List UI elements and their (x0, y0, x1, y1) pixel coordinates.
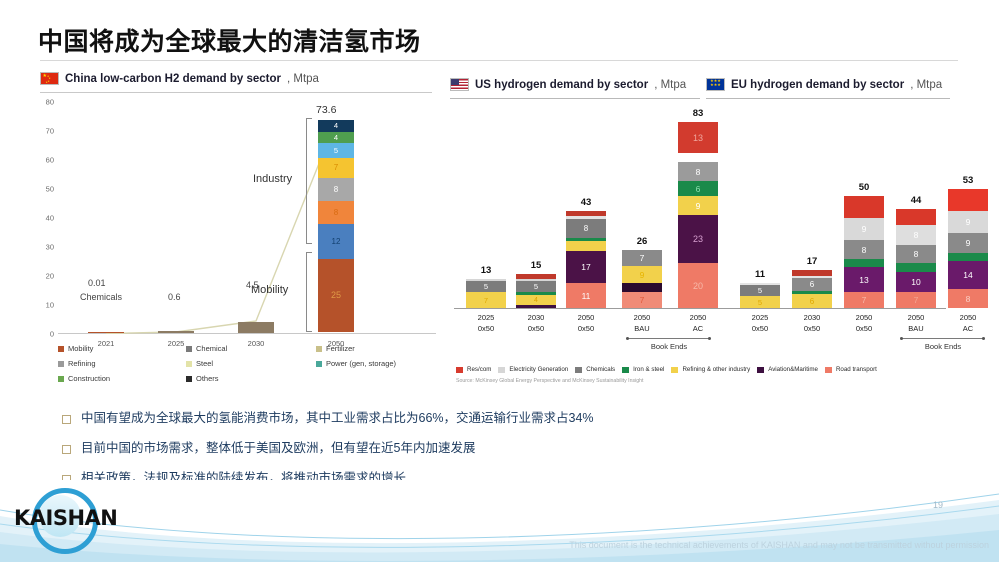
bullet-square-icon (62, 415, 71, 424)
us-bar-2050-0x50-total: 43 (581, 197, 592, 208)
page-title-wrap: 中国将成为全球最大的清洁氢市场 (38, 22, 421, 58)
china-chart-title: China low-carbon H2 demand by sector (65, 73, 281, 85)
legend-label-chemicals: Chemicals (586, 366, 615, 373)
china-seg-fertilizer: 7 (318, 158, 354, 178)
china-ytick-40: 40 (46, 214, 54, 223)
legend-label-electricity: Electricity Generation (509, 366, 568, 373)
legend-item-electricity: Electricity Generation (498, 366, 568, 373)
eu-xcat-2050-0x50: 20500x50 (856, 312, 873, 334)
legend-label-rescom: Res/com (467, 366, 491, 373)
legend-swatch-others (186, 376, 192, 382)
eu-ac-seg-aviation: 14 (948, 261, 988, 289)
legend-swatch-ironsteel (622, 367, 629, 373)
china-ytick-10: 10 (46, 301, 54, 310)
eu-bar-2050-0x50-total: 50 (859, 182, 870, 193)
eu-chart-unit: , Mtpa (910, 79, 942, 91)
china-chart-panel: ★ ★ ★ ★ ★ China low-carbon H2 demand by … (40, 72, 440, 392)
us-book-ends-label: Book Ends (624, 342, 714, 351)
china-bracket-industry (306, 118, 312, 244)
china-bar-2025 (158, 331, 194, 333)
china-plot-area: 0 10 20 30 40 50 60 70 80 4 4 5 7 (58, 102, 436, 334)
eu-bau-seg-rescom (896, 209, 936, 225)
legend-label-refining: Refining & other industry (682, 366, 750, 373)
eu-bau-seg-chemicals: 8 (896, 245, 936, 263)
legend-label-road: Road transport (836, 366, 877, 373)
legend-swatch-refining (58, 361, 64, 367)
logo-wordmark: KAISHAN (14, 506, 117, 530)
china-label-chemicals: Chemicals (80, 292, 122, 302)
china-value-2025: 0.6 (168, 292, 181, 302)
eu-2025-seg-chemicals: 5 (740, 285, 780, 296)
china-label-industry: Industry (253, 173, 292, 185)
china-legend: Mobility Chemical Fertilizer Refining St… (58, 344, 438, 383)
eu-ac-seg-rescom (948, 189, 988, 211)
legend-label-fertilizer: Fertilizer (326, 344, 355, 353)
legend-item-mobility: Mobility (58, 344, 186, 353)
eu-2050a-seg-aviation: 13 (844, 267, 884, 292)
page-title: 中国将成为全球最大的清洁氢市场 (38, 22, 421, 58)
us-chart-unit: , Mtpa (654, 79, 686, 91)
legend-swatch-rescom (456, 367, 463, 373)
eu-2050a-seg-rescom (844, 196, 884, 218)
china-chart-header: ★ ★ ★ ★ ★ China low-carbon H2 demand by … (40, 72, 440, 85)
legend-label-aviation: Aviation&Maritime (768, 366, 818, 373)
legend-item-power: Power (gen, storage) (316, 359, 438, 368)
us-bar-2050-ac-total: 83 (693, 108, 704, 119)
us-bar-2050-bau-total: 26 (637, 236, 648, 247)
legend-swatch-road (825, 367, 832, 373)
legend-swatch-fertilizer (316, 346, 322, 352)
slide-footer: KAISHAN 19 This document is the technica… (0, 480, 999, 562)
us-bau-seg-refining: 9 (622, 266, 662, 283)
legend-swatch-steel (186, 361, 192, 367)
legend-swatch-construction (58, 376, 64, 382)
us-2025-seg-chemicals: 5 (466, 281, 506, 292)
bullet-item: 中国有望成为全球最大的氢能消费市场，其中工业需求占比为66%，交通运输行业需求占… (62, 410, 822, 427)
us-bau-seg-chemicals: 7 (622, 250, 662, 266)
us-ac-seg-road: 20 (678, 263, 718, 308)
us-eu-x-axis (454, 308, 946, 309)
legend-swatch-chemicals (575, 367, 582, 373)
eu-flag-icon: ★★★★★★ (706, 78, 725, 91)
china-ytick-70: 70 (46, 127, 54, 136)
us-ac-seg-aviation: 23 (678, 215, 718, 263)
eu-bau-seg-electricity: 8 (896, 225, 936, 245)
us-2050a-seg-refining (566, 241, 606, 251)
legend-swatch-power (316, 361, 322, 367)
china-bar-2021 (88, 332, 124, 333)
legend-item-rescom: Res/com (456, 366, 491, 373)
legend-label-construction: Construction (68, 374, 110, 383)
legend-item-chemicals: Chemicals (575, 366, 615, 373)
eu-xcat-2050-bau: 2050BAU (908, 312, 925, 334)
legend-swatch-aviation (757, 367, 764, 373)
legend-item-aviation: Aviation&Maritime (757, 366, 818, 373)
footer-disclaimer: This document is the technical achieveme… (569, 540, 989, 550)
legend-item-construction: Construction (58, 374, 186, 383)
us-bar-2025-total: 13 (481, 265, 492, 276)
kaishan-logo: KAISHAN (8, 488, 138, 544)
us-xcat-2025: 20250x50 (478, 312, 495, 334)
us-2030-seg-chemicals: 5 (516, 281, 556, 292)
legend-item-steel: Steel (186, 359, 316, 368)
eu-chart-title: EU hydrogen demand by sector (731, 79, 904, 91)
eu-header-divider (706, 98, 950, 99)
china-bar-2030 (238, 322, 274, 333)
us-xcat-2050-bau: 2050BAU (634, 312, 651, 334)
eu-chart-header: ★★★★★★ EU hydrogen demand by sector , Mt… (706, 78, 950, 91)
title-divider (40, 60, 958, 61)
us-2025-seg-refining: 7 (466, 292, 506, 308)
us-ac-seg-ironsteel: 6 (678, 181, 718, 196)
us-ac-seg-gap (678, 153, 718, 162)
china-ytick-30: 30 (46, 243, 54, 252)
us-flag-icon (450, 78, 469, 91)
china-seg-power: 5 (318, 143, 354, 158)
eu-2050a-seg-ironsteel (844, 259, 884, 267)
chart-source-note: Source: McKinsey Global Energy Perspecti… (456, 378, 643, 384)
legend-swatch-electricity (498, 367, 505, 373)
china-ytick-50: 50 (46, 185, 54, 194)
eu-bar-2050-bau: 44 8 8 10 7 (896, 209, 936, 308)
china-value-2021: 0.01 (88, 278, 106, 288)
page-number: 19 (933, 500, 943, 510)
us-2050a-seg-chemicals: 8 (566, 219, 606, 238)
eu-ac-seg-electricity: 9 (948, 211, 988, 233)
legend-label-others: Others (196, 374, 219, 383)
china-value-2050: 73.6 (316, 104, 336, 116)
legend-item-chemical: Chemical (186, 344, 316, 353)
eu-bar-2050-0x50: 50 9 8 13 7 (844, 196, 884, 308)
eu-bar-2025-total: 11 (755, 269, 765, 280)
us-bau-seg-road: 7 (622, 292, 662, 308)
us-2050a-seg-road: 11 (566, 283, 606, 308)
eu-2030-seg-chemicals: 6 (792, 278, 832, 291)
china-seg-construction: 4 (318, 132, 354, 144)
us-ac-seg-chemicals: 8 (678, 162, 718, 181)
us-eu-legend: Res/com Electricity Generation Chemicals… (456, 366, 952, 373)
china-seg-mobility: 25 (318, 259, 354, 332)
eu-2050a-seg-chemicals: 8 (844, 240, 884, 259)
eu-bau-seg-aviation: 10 (896, 272, 936, 292)
bullet-square-icon (62, 445, 71, 454)
eu-bar-2030: 17 6 6 (792, 270, 832, 308)
us-eu-headers: US hydrogen demand by sector , Mtpa ★★★★… (450, 78, 950, 91)
eu-ac-seg-ironsteel (948, 253, 988, 261)
us-2030-seg-aviation (516, 305, 556, 308)
bullet-text: 目前中国的市场需求，整体低于美国及欧洲，但有望在近5年内加速发展 (81, 440, 475, 457)
legend-swatch-mobility (58, 346, 64, 352)
us-2050a-seg-aviation: 17 (566, 251, 606, 283)
legend-item-ironsteel: Iron & steel (622, 366, 664, 373)
legend-item-road: Road transport (825, 366, 877, 373)
china-bracket-mobility (306, 252, 312, 332)
china-seg-chemical: 12 (318, 224, 354, 259)
legend-label-steel: Steel (196, 359, 213, 368)
china-ytick-60: 60 (46, 156, 54, 165)
legend-item-fertilizer: Fertilizer (316, 344, 438, 353)
us-2030-seg-refining: 4 (516, 295, 556, 305)
legend-label-power: Power (gen, storage) (326, 359, 396, 368)
legend-swatch-chemical (186, 346, 192, 352)
china-chart-unit: , Mtpa (287, 73, 319, 85)
eu-xcat-2025: 20250x50 (752, 312, 769, 334)
eu-bau-seg-ironsteel (896, 263, 936, 272)
us-bar-2025: 13 5 7 (466, 279, 506, 308)
eu-xcat-2050-ac: 2050AC (960, 312, 977, 334)
china-ytick-20: 20 (46, 272, 54, 281)
cn-flag-icon: ★ ★ ★ ★ ★ (40, 72, 59, 85)
eu-ac-seg-road: 8 (948, 289, 988, 308)
eu-xcat-2030: 20300x50 (804, 312, 821, 334)
bullet-item: 目前中国的市场需求，整体低于美国及欧洲，但有望在近5年内加速发展 (62, 440, 822, 457)
eu-2030-seg-road: 6 (792, 294, 832, 308)
eu-ac-seg-chemicals: 9 (948, 233, 988, 253)
us-bau-seg-aviation (622, 283, 662, 292)
eu-bar-2050-bau-total: 44 (911, 195, 922, 206)
bullet-text: 中国有望成为全球最大的氢能消费市场，其中工业需求占比为66%，交通运输行业需求占… (81, 410, 594, 427)
eu-2050a-seg-road: 7 (844, 292, 884, 308)
china-seg-others: 4 (318, 120, 354, 132)
us-xcat-2050-ac: 2050AC (690, 312, 707, 334)
us-chart-title: US hydrogen demand by sector (475, 79, 648, 91)
us-bar-2030-total: 15 (531, 260, 542, 271)
us-header-divider (450, 98, 700, 99)
legend-swatch-refining (671, 367, 678, 373)
slide-root: 中国将成为全球最大的清洁氢市场 ★ ★ ★ ★ ★ China low-carb… (0, 0, 999, 562)
eu-2050a-seg-electricity: 9 (844, 218, 884, 240)
eu-bau-seg-road: 7 (896, 292, 936, 308)
eu-bar-2025: 11 5 5 (740, 283, 780, 308)
china-header-divider (40, 92, 432, 93)
china-ytick-80: 80 (46, 98, 54, 107)
china-seg-steel: 8 (318, 178, 354, 201)
us-bar-2050-bau: 26 7 9 7 (622, 250, 662, 308)
eu-bar-2030-total: 17 (807, 256, 818, 267)
eu-2025-seg-refining: 5 (740, 296, 780, 308)
legend-label-chemical: Chemical (196, 344, 227, 353)
us-bar-2050-ac: 83 13 8 6 9 23 20 (678, 122, 718, 308)
us-xcat-2030: 20300x50 (528, 312, 545, 334)
eu-book-ends-label: Book Ends (898, 342, 988, 351)
eu-bar-2050-ac-total: 53 (963, 175, 974, 186)
eu-bar-2050-ac: 53 9 9 14 8 (948, 189, 988, 308)
china-seg-refining: 8 (318, 201, 354, 224)
china-ytick-0: 0 (50, 330, 54, 339)
legend-item-refining: Refining & other industry (671, 366, 750, 373)
legend-label-ironsteel: Iron & steel (633, 366, 664, 373)
legend-label-mobility: Mobility (68, 344, 93, 353)
china-label-mobility: Mobility (251, 284, 288, 296)
us-xcat-2050-0x50: 20500x50 (578, 312, 595, 334)
us-eu-chart-panel: US hydrogen demand by sector , Mtpa ★★★★… (450, 78, 950, 393)
us-chart-header: US hydrogen demand by sector , Mtpa (450, 78, 706, 91)
legend-item-refining: Refining (58, 359, 186, 368)
legend-label-refining: Refining (68, 359, 96, 368)
us-eu-plot-area: 13 5 7 15 5 4 43 8 (454, 108, 946, 308)
china-bar-2050: 4 4 5 7 8 8 12 25 (318, 120, 354, 333)
us-bar-2030: 15 5 4 (516, 274, 556, 308)
us-ac-seg-rescom: 13 (678, 122, 718, 153)
us-ac-seg-refining: 9 (678, 196, 718, 215)
us-bar-2050-0x50: 43 8 17 11 (566, 211, 606, 308)
legend-item-others: Others (186, 374, 316, 383)
